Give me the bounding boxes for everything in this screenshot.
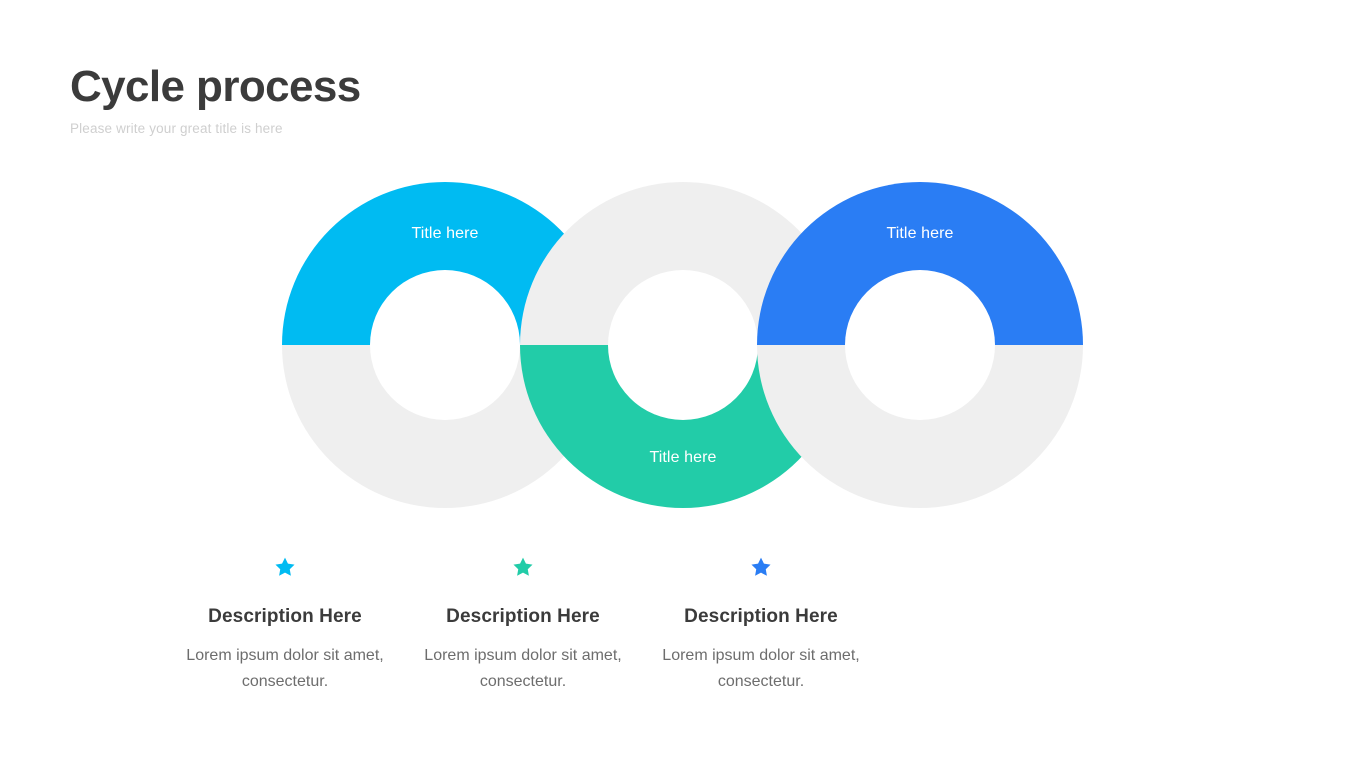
description-title-3: Description Here <box>642 606 880 628</box>
ring-1-hole <box>370 270 520 420</box>
description-row: Description Here Lorem ipsum dolor sit a… <box>0 556 1365 695</box>
ring-3-hole <box>845 270 995 420</box>
ring-1-label: Title here <box>411 225 478 242</box>
ring-3-label: Title here <box>886 225 953 242</box>
star-icon <box>750 556 772 578</box>
star-icon <box>274 556 296 578</box>
page-subtitle: Please write your great title is here <box>70 121 361 136</box>
description-column-3[interactable]: Description Here Lorem ipsum dolor sit a… <box>642 556 880 695</box>
description-body-1: Lorem ipsum dolor sit amet, consectetur. <box>166 643 404 695</box>
star-icon <box>512 556 534 578</box>
description-body-3: Lorem ipsum dolor sit amet, consectetur. <box>642 643 880 695</box>
slide-header: Cycle process Please write your great ti… <box>70 64 361 136</box>
ring-2-label: Title here <box>649 449 716 466</box>
slide-canvas: Cycle process Please write your great ti… <box>0 0 1365 768</box>
description-title-2: Description Here <box>404 606 642 628</box>
description-column-2[interactable]: Description Here Lorem ipsum dolor sit a… <box>404 556 642 695</box>
description-body-2: Lorem ipsum dolor sit amet, consectetur. <box>404 643 642 695</box>
description-title-1: Description Here <box>166 606 404 628</box>
page-title: Cycle process <box>70 64 361 110</box>
cycle-ring-3[interactable]: Title here <box>757 182 1083 508</box>
ring-2-hole <box>608 270 758 420</box>
description-column-1[interactable]: Description Here Lorem ipsum dolor sit a… <box>166 556 404 695</box>
